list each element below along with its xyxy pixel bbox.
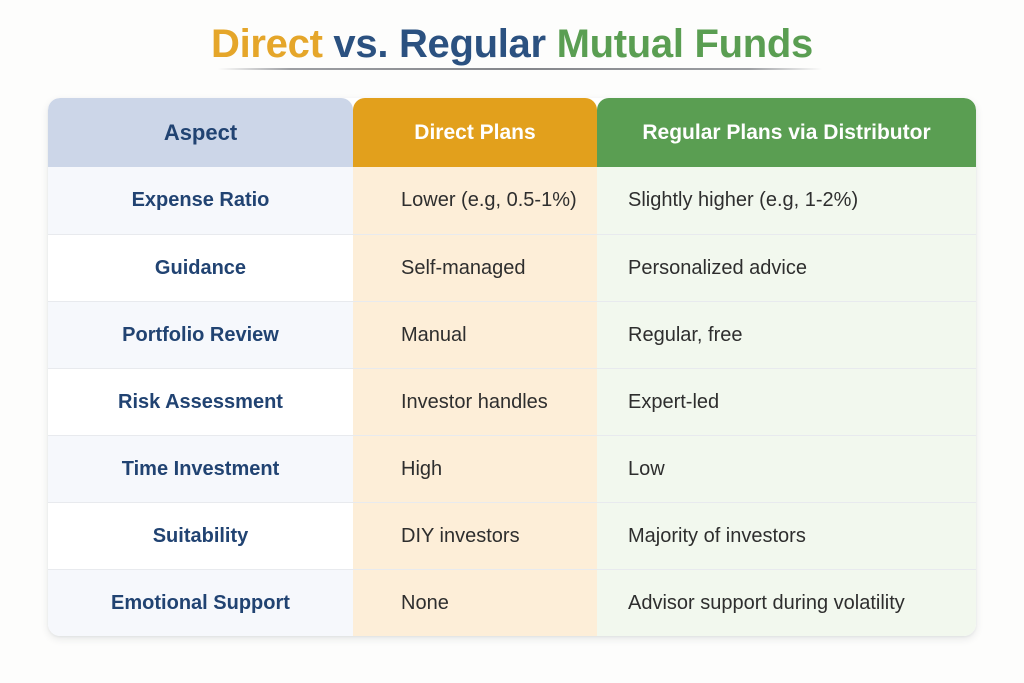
table-row: Guidance Self-managed Personalized advic… (48, 234, 976, 301)
table-row: Time Investment High Low (48, 435, 976, 502)
cell-direct: None (353, 569, 597, 636)
cell-direct: Self-managed (353, 234, 597, 301)
comparison-infographic: Direct vs. Regular Mutual Funds Aspect D… (0, 0, 1024, 683)
table-row: Portfolio Review Manual Regular, free (48, 301, 976, 368)
cell-aspect: Guidance (48, 234, 353, 301)
table-row: Expense Ratio Lower (e.g, 0.5-1%) Slight… (48, 167, 976, 234)
table-row: Risk Assessment Investor handles Expert-… (48, 368, 976, 435)
page-title-segment-direct: Direct (211, 22, 323, 66)
page-title: Direct vs. Regular Mutual Funds (0, 20, 1024, 68)
cell-aspect: Time Investment (48, 435, 353, 502)
page-title-container: Direct vs. Regular Mutual Funds (0, 20, 1024, 68)
cell-direct: Investor handles (353, 368, 597, 435)
cell-regular: Slightly higher (e.g, 1-2%) (597, 167, 976, 234)
column-header-regular-plans: Regular Plans via Distributor (597, 98, 976, 167)
table-row: Suitability DIY investors Majority of in… (48, 502, 976, 569)
column-header-direct-plans: Direct Plans (353, 98, 597, 167)
cell-aspect: Emotional Support (48, 569, 353, 636)
cell-regular: Low (597, 435, 976, 502)
cell-aspect: Expense Ratio (48, 167, 353, 234)
cell-regular: Majority of investors (597, 502, 976, 569)
table-row: Emotional Support None Advisor support d… (48, 569, 976, 636)
cell-regular: Regular, free (597, 301, 976, 368)
cell-direct: High (353, 435, 597, 502)
column-header-aspect: Aspect (48, 98, 353, 167)
page-title-segment-vs-regular: vs. Regular (323, 22, 557, 66)
page-title-segment-mutual-funds: Mutual Funds (557, 22, 813, 66)
cell-aspect: Portfolio Review (48, 301, 353, 368)
cell-aspect: Risk Assessment (48, 368, 353, 435)
cell-direct: Manual (353, 301, 597, 368)
title-underline-divider (218, 68, 822, 70)
cell-regular: Expert-led (597, 368, 976, 435)
cell-aspect: Suitability (48, 502, 353, 569)
table-header-row: Aspect Direct Plans Regular Plans via Di… (48, 98, 976, 167)
cell-direct: Lower (e.g, 0.5-1%) (353, 167, 597, 234)
cell-regular: Advisor support during volatility (597, 569, 976, 636)
comparison-table: Aspect Direct Plans Regular Plans via Di… (48, 98, 976, 636)
cell-direct: DIY investors (353, 502, 597, 569)
cell-regular: Personalized advice (597, 234, 976, 301)
